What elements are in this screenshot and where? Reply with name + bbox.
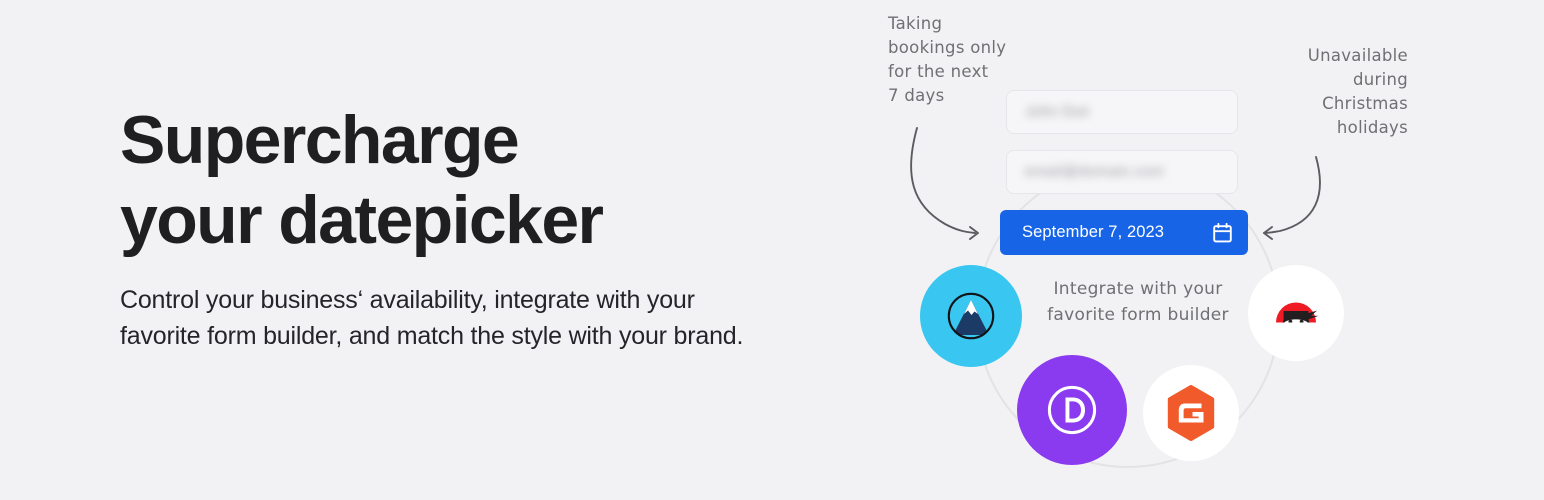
divi-d-icon: [1042, 380, 1102, 440]
mountain-icon: [942, 287, 1000, 345]
integration-fluent-forms[interactable]: [920, 265, 1022, 367]
name-input[interactable]: John Doe: [1006, 90, 1238, 134]
hero-copy: Supercharge your datepicker Control your…: [120, 100, 780, 354]
headline-line-2: your datepicker: [120, 180, 780, 260]
datepicker-field[interactable]: September 7, 2023: [1000, 210, 1248, 255]
ninja-face-icon: [1269, 293, 1323, 333]
name-input-value: John Doe: [1025, 103, 1089, 120]
page-title: Supercharge your datepicker: [120, 100, 780, 260]
annotation-christmas: Unavailable during Christmas holidays: [1260, 44, 1408, 140]
hero-visual: Taking bookings only for the next 7 days…: [860, 0, 1544, 500]
email-input[interactable]: email@domain.com: [1006, 150, 1238, 194]
datepicker-value: September 7, 2023: [1022, 223, 1164, 242]
calendar-icon: [1213, 223, 1232, 243]
annotation-form-builder: Integrate with your favorite form builde…: [1038, 276, 1238, 328]
hero-section: Supercharge your datepicker Control your…: [0, 0, 1544, 500]
gravity-hexagon-icon: [1165, 385, 1217, 441]
integration-divi[interactable]: [1017, 355, 1127, 465]
headline-line-1: Supercharge: [120, 102, 518, 178]
email-input-value: email@domain.com: [1025, 163, 1164, 180]
integration-gravity-forms[interactable]: [1143, 365, 1239, 461]
integration-ninja-forms[interactable]: [1248, 265, 1344, 361]
hero-description: Control your business‘ availability, int…: [120, 282, 745, 354]
annotation-booking-window: Taking bookings only for the next 7 days: [888, 12, 1018, 108]
